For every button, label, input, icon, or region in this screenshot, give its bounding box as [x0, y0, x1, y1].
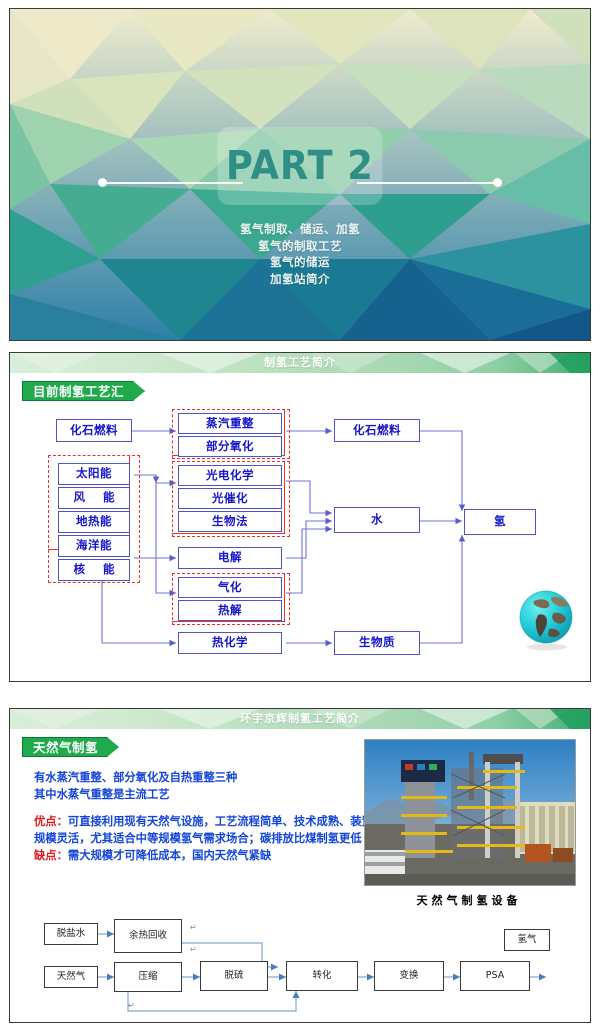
cons-paragraph: 缺点：需大规模才可降低成本，国内天然气紧缺	[34, 847, 374, 864]
flow-step-desulfurization: 脱硫	[200, 961, 268, 991]
part-title: PART 2	[226, 146, 374, 186]
feed-water: 水	[334, 507, 420, 533]
paragraph-mark-2: ↵	[190, 945, 197, 954]
flow-input-natural-gas: 天然气	[44, 966, 98, 988]
cover-subtitle-line-3: 氢气的储运	[10, 254, 590, 271]
flow-step-psa: PSA	[460, 961, 530, 991]
process-biological: 生物法	[178, 511, 282, 532]
cover-subtitle-line-2: 氢气的制取工艺	[10, 238, 590, 255]
natural-gas-plant-photo	[364, 739, 576, 886]
source-geothermal: 地热能	[58, 511, 130, 533]
process-pyrolysis: 热解	[178, 600, 282, 621]
slide3-title-bar: 环宇京辉制氢工艺简介	[10, 709, 590, 729]
pros-paragraph: 优点：可直接利用现有天然气设施，工艺流程简单、技术成熟、装置规模灵活，尤其适合中…	[34, 813, 374, 847]
cover-subtitle-line-1: 氢气制取、储运、加氢	[10, 221, 590, 238]
cover-dot-left	[98, 178, 107, 187]
cons-label: 缺点：	[34, 849, 68, 862]
process-photocatalysis: 光催化	[178, 488, 282, 509]
slide-natural-gas-hydrogen: 环宇京辉制氢工艺简介 天然气制氢 有水蒸汽重整、部分氧化及自热重整三种 其中水蒸…	[9, 708, 591, 1023]
slide-cover: PART 2 氢气制取、储运、加氢 氢气的制取工艺 氢气的储运 加氢站简介	[9, 8, 591, 341]
slide3-title-text: 环宇京辉制氢工艺简介	[10, 709, 590, 729]
intro-line-1: 有水蒸汽重整、部分氧化及自热重整三种	[34, 769, 374, 786]
process-partial-oxidation: 部分氧化	[178, 436, 282, 457]
slide2-title-bar: 制氢工艺简介	[10, 353, 590, 373]
cons-text: 需大规模才可降低成本，国内天然气紧缺	[68, 849, 271, 862]
source-solar: 太阳能	[58, 463, 130, 485]
process-photoelectrochemical: 光电化学	[178, 465, 282, 486]
slide-hydrogen-process-overview: 制氢工艺简介 目前制氢工艺汇	[9, 352, 591, 682]
process-electrolysis: 电解	[178, 547, 282, 569]
natural-gas-body-text: 有水蒸汽重整、部分氧化及自热重整三种 其中水蒸气重整是主流工艺 优点：可直接利用…	[34, 769, 374, 864]
flow-step-compression: 压缩	[114, 962, 182, 992]
feed-biomass: 生物质	[334, 631, 420, 655]
cover-dot-right	[493, 178, 502, 187]
cover-subtitle-block: 氢气制取、储运、加氢 氢气的制取工艺 氢气的储运 加氢站简介	[10, 221, 590, 287]
feed-fossil-fuel: 化石燃料	[334, 419, 420, 442]
hydrogen-process-diagram: 化石燃料 太阳能 风 能 地热能 海洋能 核 能 蒸汽重整 部分氧化 光电化学 …	[10, 353, 591, 661]
slide2-title-text: 制氢工艺简介	[10, 353, 590, 373]
flow-step-shift-conversion: 变换	[374, 961, 444, 991]
part-title-plate: PART 2	[218, 127, 383, 205]
intro-line-2: 其中水蒸气重整是主流工艺	[34, 786, 374, 803]
flow-input-demineralized-water: 脱盐水	[44, 923, 98, 945]
pros-label: 优点：	[34, 815, 68, 828]
source-ocean: 海洋能	[58, 535, 130, 557]
natural-gas-process-flow: 脱盐水 天然气 余热回收 压缩 脱硫 转化 变换 PSA 氢气 ↵ ↵ ↵	[10, 905, 591, 1020]
source-fossil-fuel: 化石燃料	[56, 419, 132, 442]
process-steam-reforming: 蒸汽重整	[178, 413, 282, 434]
slide-deck-page: PART 2 氢气制取、储运、加氢 氢气的制取工艺 氢气的储运 加氢站简介 制氢…	[0, 0, 600, 1031]
source-wind: 风 能	[58, 487, 130, 509]
process-gasification: 气化	[178, 577, 282, 598]
pros-text: 可直接利用现有天然气设施，工艺流程简单、技术成熟、装置规模灵活，尤其适合中等规模…	[34, 815, 373, 845]
process-thermochemical: 热化学	[178, 632, 282, 654]
globe-earth-icon	[516, 589, 578, 651]
slide3-section-tag: 天然气制氢	[22, 737, 119, 757]
flow-step-waste-heat-recovery: 余热回收	[114, 919, 182, 953]
product-hydrogen: 氢	[464, 509, 536, 535]
flow-step-reforming: 转化	[286, 961, 358, 991]
flow-output-hydrogen: 氢气	[504, 929, 550, 951]
paragraph-mark-3: ↵	[128, 1001, 135, 1010]
paragraph-mark-1: ↵	[190, 923, 197, 932]
source-nuclear: 核 能	[58, 559, 130, 581]
cover-subtitle-line-4: 加氢站简介	[10, 271, 590, 288]
